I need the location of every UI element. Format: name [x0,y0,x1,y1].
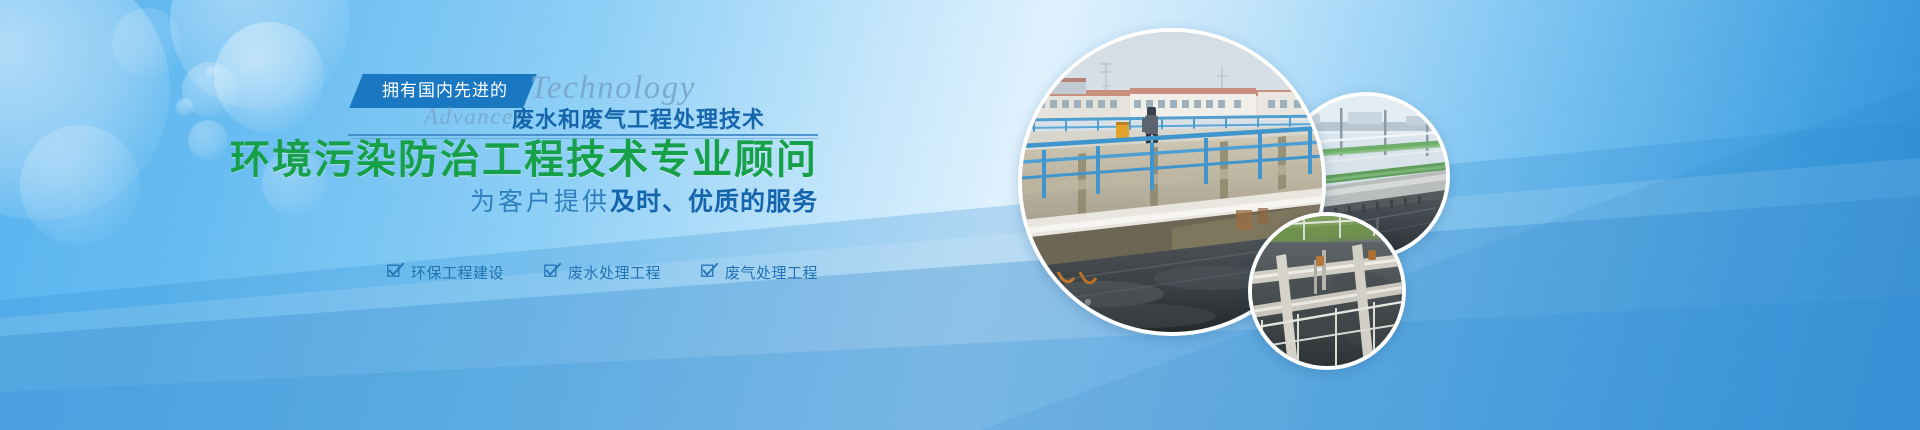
checklist-item-label: 环保工程建设 [411,262,504,283]
service-line-emphasis: 及时、优质的服务 [610,188,818,216]
checklist-item[interactable]: 废气处理工程 [701,262,818,283]
checklist-item-label: 废水处理工程 [568,262,661,283]
eyebrow-badge-label: 拥有国内先进的 [382,74,508,108]
checklist-item[interactable]: 环保工程建设 [387,262,504,283]
check-box-icon [701,263,718,282]
feature-checklist: 环保工程建设 废水处理工程 废气处理工程 [0,262,818,283]
service-line-prefix: 为客户提供 [470,188,610,216]
check-box-icon [387,263,404,282]
banner-headline: 环境污染防治工程技术专业顾问 [0,136,818,184]
checklist-item[interactable]: 废水处理工程 [544,262,661,283]
check-box-icon [544,263,561,282]
subline-row: Advanced 废水和废气工程处理技术 [0,104,820,138]
aeration-tank-photo [1248,212,1406,370]
banner-copy: 拥有国内先进的 Technology Advanced 废水和废气工程处理技术 … [0,0,830,430]
service-line: 为客户提供及时、优质的服务 [0,186,818,218]
subline-text: 废水和废气工程处理技术 [512,102,765,134]
checklist-item-label: 废气处理工程 [725,262,818,283]
photo-collage [1010,0,1530,430]
promo-banner: 拥有国内先进的 Technology Advanced 废水和废气工程处理技术 … [0,0,1920,430]
eyebrow-badge: 拥有国内先进的 [349,74,537,108]
